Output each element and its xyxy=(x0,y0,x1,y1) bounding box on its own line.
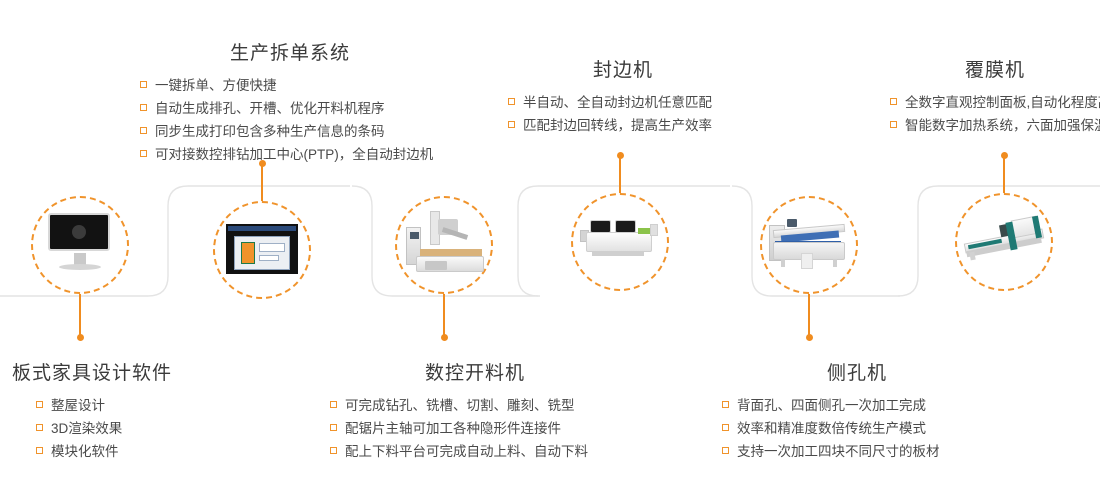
connector-stem-splitting-system xyxy=(261,163,263,203)
feature-item: 支持一次加工四块不同尺寸的板材 xyxy=(722,440,992,463)
feature-item: 配上下料平台可完成自动上料、自动下料 xyxy=(330,440,620,463)
imac-computer-icon xyxy=(38,209,122,281)
block-title: 板式家具设计软件 xyxy=(12,358,242,385)
block-cnc-cutting-machine: 数控开料机 可完成钻孔、铣槽、切割、雕刻、铣型 配锯片主轴可加工各种隐形件连接件… xyxy=(330,358,620,463)
connector-dot xyxy=(806,334,813,341)
connector-stem-cnc-cutting xyxy=(443,292,445,338)
feature-text: 效率和精准度数倍传统生产模式 xyxy=(737,421,926,436)
feature-item: 整屋设计 xyxy=(36,394,242,417)
connector-dot xyxy=(617,152,624,159)
feature-text: 自动生成排孔、开槽、优化开料机程序 xyxy=(155,101,385,116)
block-title: 覆膜机 xyxy=(890,55,1100,82)
block-title: 侧孔机 xyxy=(722,358,992,385)
feature-item: 匹配封边回转线，提高生产效率 xyxy=(508,114,738,137)
connector-stem-design-software xyxy=(79,292,81,338)
block-laminating-machine: 覆膜机 全数字直观控制面板,自动化程度高 智能数字加热系统，六面加强保温 xyxy=(890,55,1100,137)
connector-stem-side-hole xyxy=(808,292,810,338)
feature-text: 整屋设计 xyxy=(51,398,105,413)
feature-text: 一键拆单、方便快捷 xyxy=(155,78,277,93)
laminator-icon xyxy=(962,206,1046,278)
checkbox-icon xyxy=(140,150,147,157)
feature-text: 智能数字加热系统，六面加强保温 xyxy=(905,118,1100,133)
checkbox-icon xyxy=(36,401,43,408)
block-panel-furniture-design-software: 板式家具设计软件 整屋设计 3D渲染效果 模块化软件 xyxy=(12,358,242,463)
node-laminator[interactable] xyxy=(955,193,1053,291)
checkbox-icon xyxy=(890,98,897,105)
block-edge-banding-machine: 封边机 半自动、全自动封边机任意匹配 匹配封边回转线，提高生产效率 xyxy=(508,55,738,137)
feature-item: 同步生成打印包含多种生产信息的条码 xyxy=(140,120,440,143)
block-side-hole-drilling-machine: 侧孔机 背面孔、四面侧孔一次加工完成 效率和精准度数倍传统生产模式 支持一次加工… xyxy=(722,358,992,463)
feature-item: 自动生成排孔、开槽、优化开料机程序 xyxy=(140,97,440,120)
feature-list: 一键拆单、方便快捷 自动生成排孔、开槽、优化开料机程序 同步生成打印包含多种生产… xyxy=(140,74,440,166)
feature-item: 效率和精准度数倍传统生产模式 xyxy=(722,417,992,440)
feature-list: 全数字直观控制面板,自动化程度高 智能数字加热系统，六面加强保温 xyxy=(890,91,1100,137)
node-design-computer[interactable] xyxy=(31,196,129,294)
feature-text: 3D渲染效果 xyxy=(51,421,122,436)
feature-item: 配锯片主轴可加工各种隐形件连接件 xyxy=(330,417,620,440)
checkbox-icon xyxy=(330,401,337,408)
side-drill-icon xyxy=(767,209,851,281)
feature-list: 整屋设计 3D渲染效果 模块化软件 xyxy=(12,394,242,463)
feature-item: 一键拆单、方便快捷 xyxy=(140,74,440,97)
feature-text: 半自动、全自动封边机任意匹配 xyxy=(523,95,712,110)
connector-dot xyxy=(1001,152,1008,159)
feature-item: 模块化软件 xyxy=(36,440,242,463)
node-cnc-router[interactable] xyxy=(395,196,493,294)
checkbox-icon xyxy=(508,98,515,105)
checkbox-icon xyxy=(330,424,337,431)
feature-text: 可完成钻孔、铣槽、切割、雕刻、铣型 xyxy=(345,398,575,413)
feature-item: 3D渲染效果 xyxy=(36,417,242,440)
feature-text: 背面孔、四面侧孔一次加工完成 xyxy=(737,398,926,413)
cnc-router-icon xyxy=(402,209,486,281)
feature-text: 匹配封边回转线，提高生产效率 xyxy=(523,118,712,133)
checkbox-icon xyxy=(140,104,147,111)
feature-item: 半自动、全自动封边机任意匹配 xyxy=(508,91,738,114)
checkbox-icon xyxy=(140,81,147,88)
feature-item: 背面孔、四面侧孔一次加工完成 xyxy=(722,394,992,417)
node-edge-bander[interactable] xyxy=(571,193,669,291)
feature-item: 全数字直观控制面板,自动化程度高 xyxy=(890,91,1100,114)
block-title: 数控开料机 xyxy=(330,358,620,385)
block-title: 生产拆单系统 xyxy=(140,38,440,65)
feature-list: 背面孔、四面侧孔一次加工完成 效率和精准度数倍传统生产模式 支持一次加工四块不同… xyxy=(722,394,992,463)
block-title: 封边机 xyxy=(508,55,738,82)
node-splitting-software[interactable] xyxy=(213,201,311,299)
software-window-icon xyxy=(220,214,304,286)
feature-item: 智能数字加热系统，六面加强保温 xyxy=(890,114,1100,137)
feature-item: 可对接数控排钻加工中心(PTP)，全自动封边机 xyxy=(140,143,440,166)
feature-text: 全数字直观控制面板,自动化程度高 xyxy=(905,95,1100,110)
edge-bander-icon xyxy=(578,206,662,278)
node-side-driller[interactable] xyxy=(760,196,858,294)
block-production-order-splitting-system: 生产拆单系统 一键拆单、方便快捷 自动生成排孔、开槽、优化开料机程序 同步生成打… xyxy=(140,38,440,166)
checkbox-icon xyxy=(722,401,729,408)
feature-text: 支持一次加工四块不同尺寸的板材 xyxy=(737,444,940,459)
connector-dot xyxy=(441,334,448,341)
feature-text: 可对接数控排钻加工中心(PTP)，全自动封边机 xyxy=(155,147,433,162)
feature-text: 同步生成打印包含多种生产信息的条码 xyxy=(155,124,385,139)
checkbox-icon xyxy=(140,127,147,134)
checkbox-icon xyxy=(722,447,729,454)
feature-text: 配上下料平台可完成自动上料、自动下料 xyxy=(345,444,588,459)
connector-dot xyxy=(77,334,84,341)
checkbox-icon xyxy=(722,424,729,431)
feature-item: 可完成钻孔、铣槽、切割、雕刻、铣型 xyxy=(330,394,620,417)
checkbox-icon xyxy=(330,447,337,454)
feature-text: 配锯片主轴可加工各种隐形件连接件 xyxy=(345,421,561,436)
infographic-stage: 生产拆单系统 一键拆单、方便快捷 自动生成排孔、开槽、优化开料机程序 同步生成打… xyxy=(0,0,1100,495)
checkbox-icon xyxy=(508,121,515,128)
feature-text: 模块化软件 xyxy=(51,444,119,459)
checkbox-icon xyxy=(36,447,43,454)
checkbox-icon xyxy=(890,121,897,128)
checkbox-icon xyxy=(36,424,43,431)
feature-list: 半自动、全自动封边机任意匹配 匹配封边回转线，提高生产效率 xyxy=(508,91,738,137)
feature-list: 可完成钻孔、铣槽、切割、雕刻、铣型 配锯片主轴可加工各种隐形件连接件 配上下料平… xyxy=(330,394,620,463)
